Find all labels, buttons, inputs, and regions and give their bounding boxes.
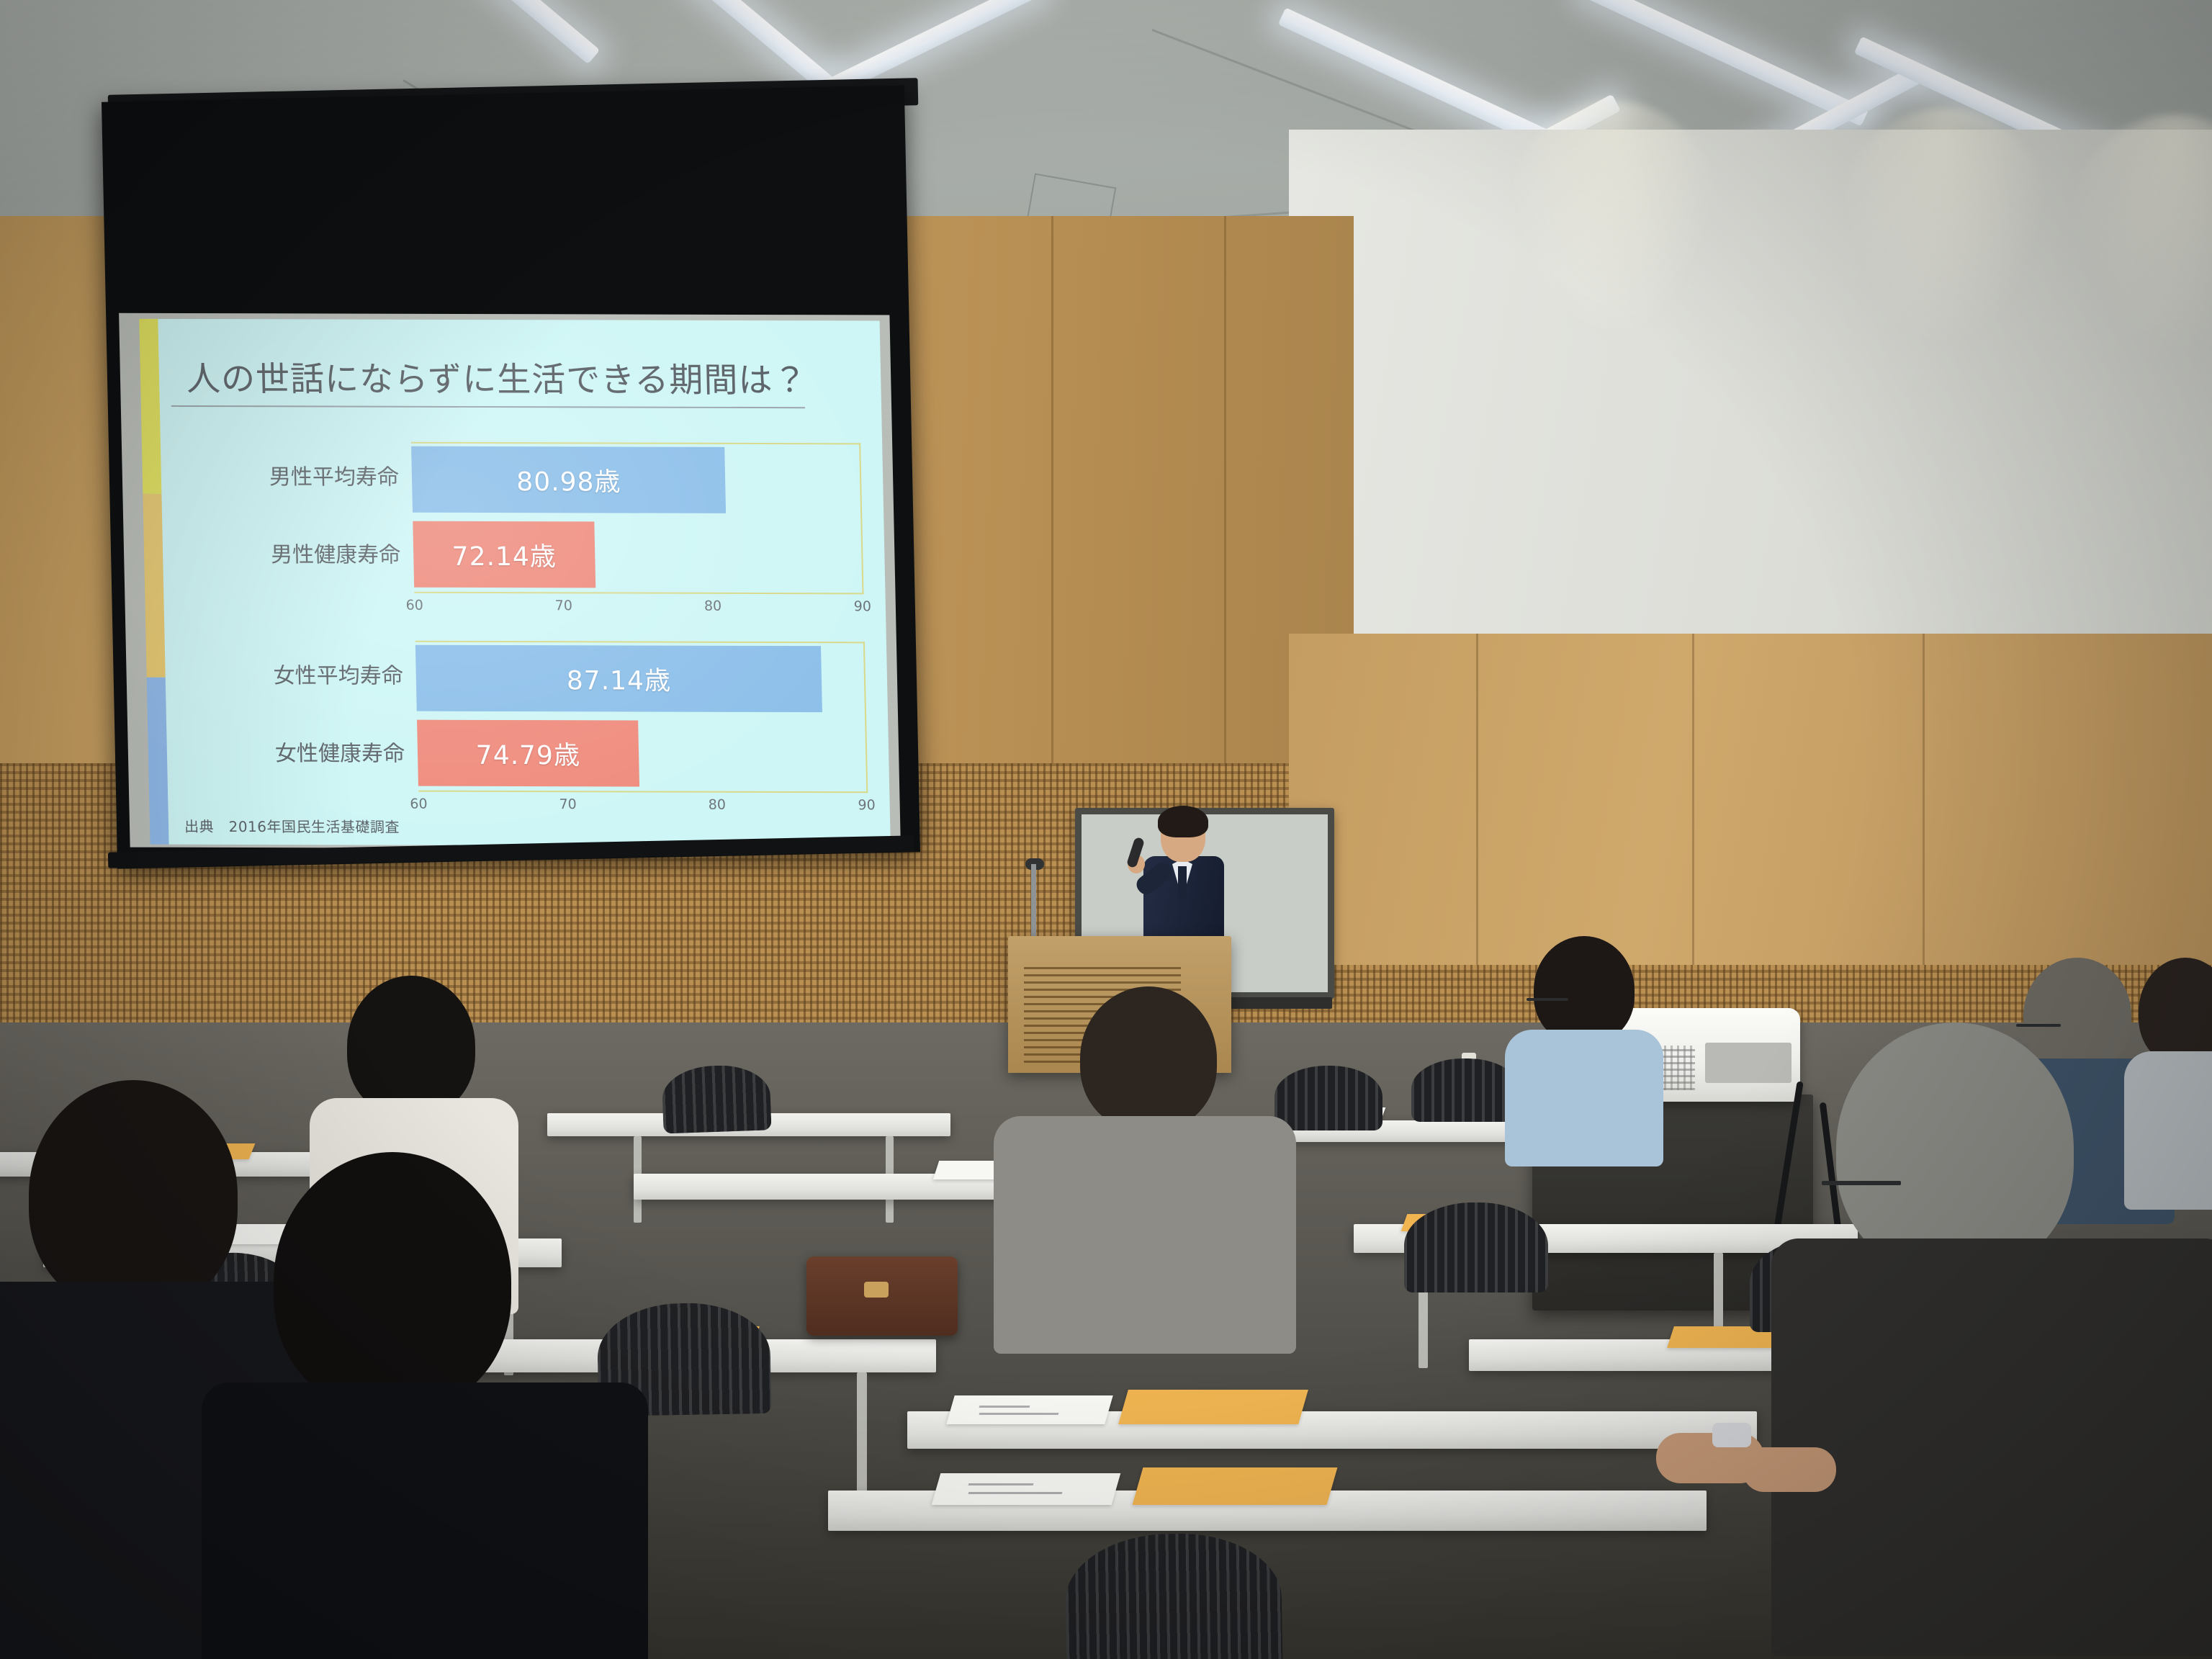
category-label: 男性健康寿命 — [176, 536, 401, 569]
attendee-torso — [1505, 1030, 1663, 1166]
bar-female-average: 87.14歳 — [415, 645, 822, 712]
chair[interactable] — [661, 1064, 771, 1133]
attendee-head — [1080, 986, 1217, 1130]
bar-value-label: 74.79歳 — [475, 734, 580, 772]
paper-text-line — [968, 1483, 1034, 1485]
bar-male-average: 80.98歳 — [411, 446, 726, 513]
microphone-stand — [1031, 864, 1036, 939]
category-label: 女性平均寿命 — [178, 657, 403, 690]
chair[interactable] — [1411, 1058, 1519, 1122]
chair[interactable] — [1064, 1532, 1282, 1659]
presenter-tie — [1178, 866, 1187, 899]
attendee — [994, 986, 1296, 1332]
attendee-head — [347, 976, 475, 1117]
x-tick: 80 — [709, 797, 727, 813]
chart-panel-female: 女性平均寿命 女性健康寿命 87.14歳 74.79歳 60 70 80 90 — [178, 636, 882, 826]
attendee-head — [1836, 1022, 2074, 1274]
desk-leg — [857, 1372, 867, 1509]
presenter — [1138, 810, 1231, 954]
wall-spotlight — [1836, 108, 2052, 346]
attendee-head — [274, 1152, 511, 1411]
accent-segment-yellow — [139, 319, 161, 494]
attendee — [1505, 936, 1663, 1152]
attendee-head — [1534, 936, 1635, 1044]
glasses-icon — [1527, 998, 1568, 1001]
chart-panel-male: 男性平均寿命 男性健康寿命 80.98歳 72.14歳 60 70 80 90 — [174, 437, 878, 627]
attendee — [187, 1152, 634, 1659]
wristwatch — [1712, 1423, 1751, 1447]
accent-segment-blue — [147, 678, 169, 845]
plot-area-female: 87.14歳 74.79歳 60 70 80 90 — [415, 641, 868, 793]
paper-text-line — [979, 1413, 1059, 1415]
bar-value-label: 80.98歳 — [516, 461, 621, 498]
handout-orange — [1118, 1390, 1308, 1424]
paper-text-line — [968, 1492, 1063, 1494]
attendee-torso — [994, 1116, 1296, 1354]
handout-white — [932, 1473, 1121, 1505]
bar-female-healthy: 74.79歳 — [417, 720, 639, 787]
bar-value-label: 72.14歳 — [451, 536, 557, 573]
briefcase-clasp — [864, 1282, 889, 1298]
slide-surface: 人の世話にならずに生活できる期間は？ 男性平均寿命 男性健康寿命 80.98歳 … — [119, 313, 901, 850]
handout-orange — [1133, 1467, 1338, 1505]
x-tick: 70 — [555, 598, 573, 613]
slide-title: 人の世話にならずに生活できる期間は？ — [186, 351, 863, 402]
seminar-room-scene: 人の世話にならずに生活できる期間は？ 男性平均寿命 男性健康寿命 80.98歳 … — [0, 0, 2212, 1659]
wall-spotlight — [1505, 101, 1721, 338]
category-label: 女性健康寿命 — [179, 735, 405, 768]
bar-male-healthy: 72.14歳 — [413, 521, 595, 588]
bar-value-label: 87.14歳 — [566, 660, 671, 697]
paper-text-line — [979, 1406, 1030, 1408]
handout-white — [946, 1395, 1112, 1424]
projection-screen: 人の世話にならずに生活できる期間は？ 男性平均寿命 男性健康寿命 80.98歳 … — [102, 85, 920, 868]
x-tick: 60 — [405, 598, 423, 613]
attendee-torso — [1771, 1238, 2212, 1656]
x-tick: 70 — [559, 796, 577, 812]
slide-source-note: 出典 2016年国民生活基礎調査 — [184, 815, 400, 837]
category-label: 男性平均寿命 — [174, 459, 399, 491]
x-tick: 60 — [410, 796, 428, 812]
glasses-icon — [1822, 1181, 1901, 1185]
chair[interactable] — [1404, 1202, 1548, 1292]
accent-segment-gold — [143, 494, 165, 678]
attendee — [1771, 1022, 2212, 1656]
x-tick: 90 — [858, 797, 876, 813]
x-tick: 80 — [704, 598, 722, 614]
attendee-torso — [202, 1382, 648, 1659]
plot-area-male: 80.98歳 72.14歳 60 70 80 90 — [411, 442, 864, 595]
attendee-hand — [1743, 1447, 1836, 1492]
presenter-hair — [1158, 806, 1208, 837]
wall-spotlight — [2067, 115, 2212, 353]
x-tick: 90 — [854, 598, 872, 614]
